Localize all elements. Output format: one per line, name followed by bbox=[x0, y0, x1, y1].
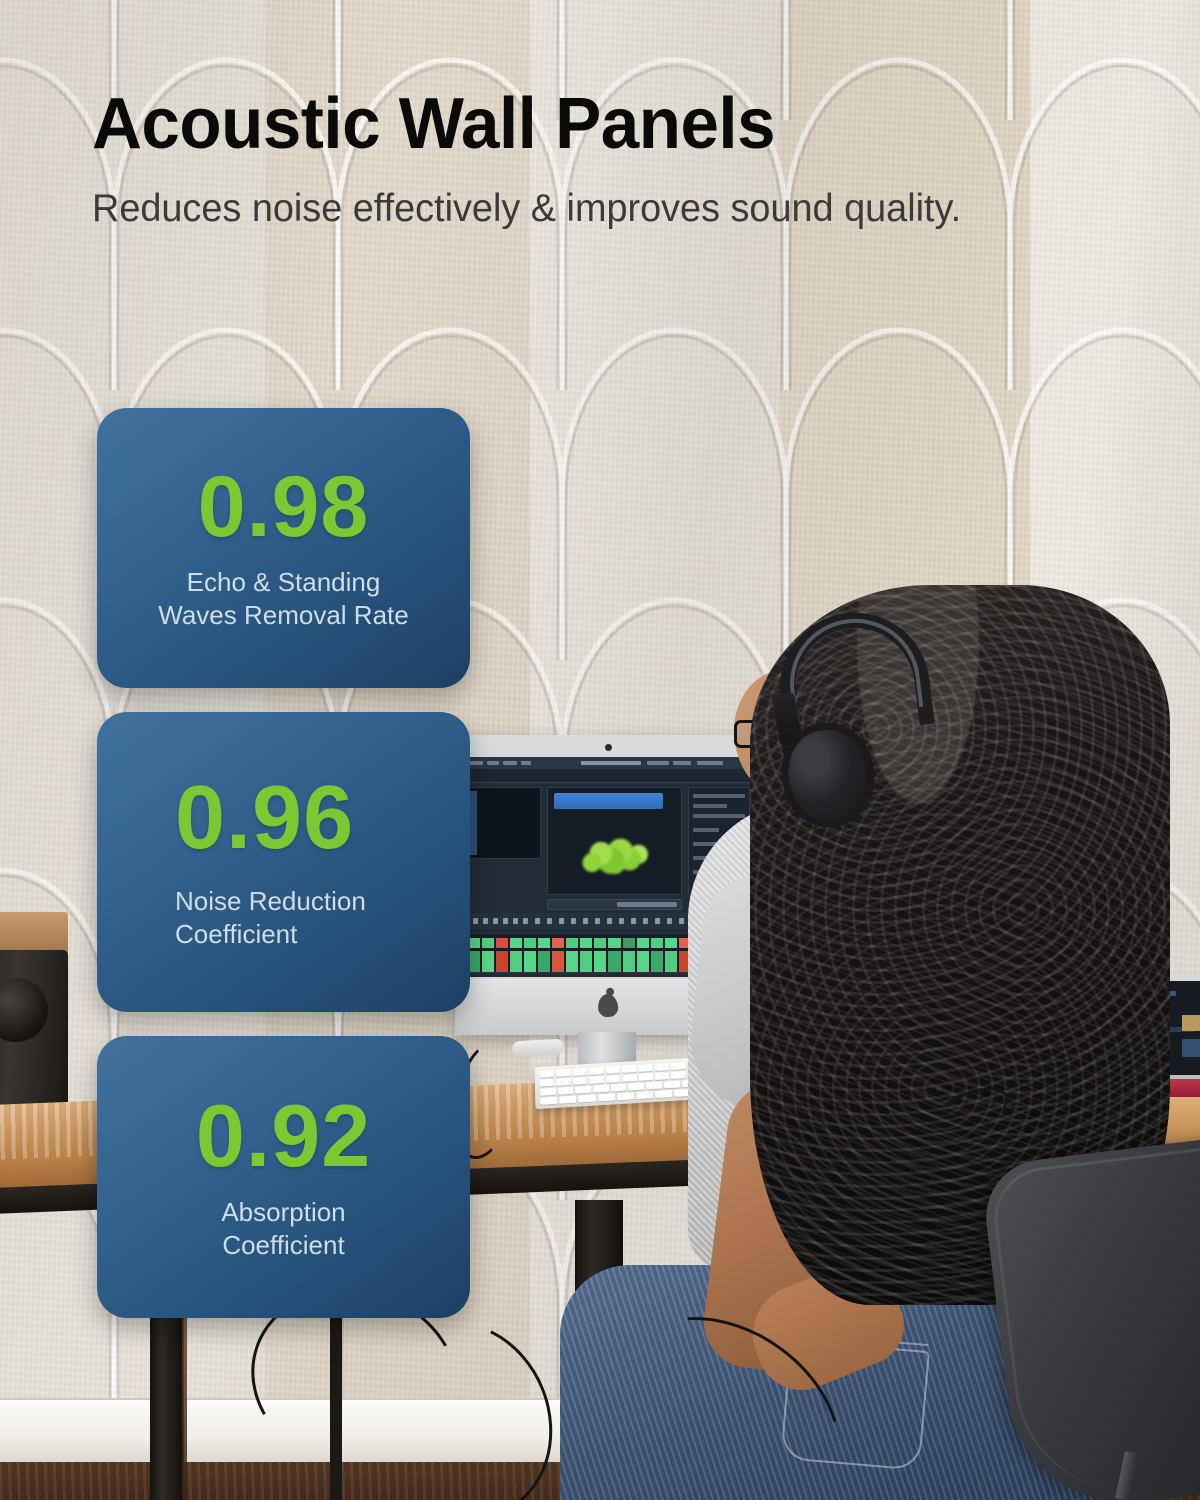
stat-card-absorption: 0.92 Absorption Coefficient bbox=[97, 1036, 470, 1318]
stat-value: 0.92 bbox=[196, 1092, 371, 1180]
stat-label-line1: Noise Reduction bbox=[175, 885, 366, 918]
speaker-cone-icon bbox=[0, 978, 48, 1042]
stat-card-echo-removal: 0.98 Echo & Standing Waves Removal Rate bbox=[97, 408, 470, 688]
product-infographic: Acoustic Wall Panels Reduces noise effec… bbox=[0, 0, 1200, 1500]
stat-label: Echo & Standing Waves Removal Rate bbox=[158, 566, 408, 633]
page-subtitle: Reduces noise effectively & improves sou… bbox=[92, 188, 1101, 231]
stat-label: Noise Reduction Coefficient bbox=[175, 885, 366, 952]
stat-label-line2: Coefficient bbox=[221, 1229, 345, 1262]
stat-label-line1: Absorption bbox=[221, 1196, 345, 1229]
stat-card-noise-reduction: 0.96 Noise Reduction Coefficient bbox=[97, 712, 470, 1012]
page-title: Acoustic Wall Panels bbox=[92, 88, 1052, 160]
stat-value: 0.98 bbox=[198, 464, 369, 550]
stat-label-line2: Waves Removal Rate bbox=[158, 599, 408, 632]
daw-scroll-indicator bbox=[469, 791, 477, 855]
stat-label: Absorption Coefficient bbox=[221, 1196, 345, 1263]
stat-value: 0.96 bbox=[175, 773, 354, 863]
stat-label-line1: Echo & Standing bbox=[158, 566, 408, 599]
stat-label-line2: Coefficient bbox=[175, 918, 366, 951]
